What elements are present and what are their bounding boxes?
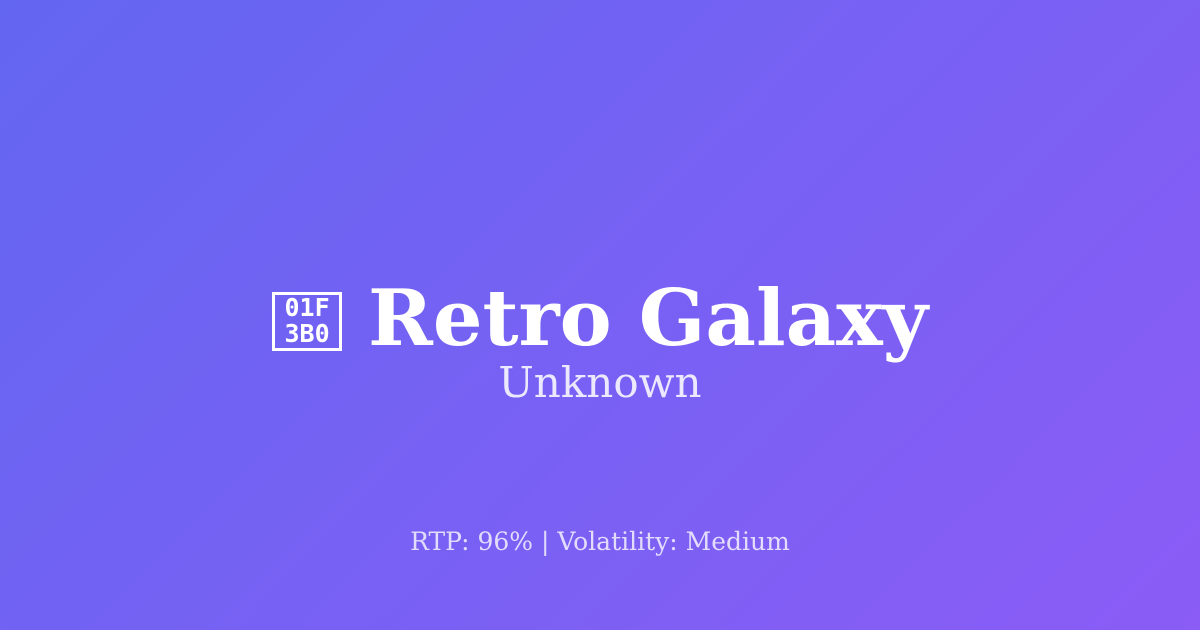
slot-machine-icon-hex-top: 01F — [284, 295, 329, 321]
game-stats-line: RTP: 96% | Volatility: Medium — [0, 527, 1200, 557]
game-og-card: 01F 3B0 Retro Galaxy Unknown RTP: 96% | … — [0, 0, 1200, 630]
provider-label: Unknown — [0, 362, 1200, 404]
slot-machine-icon-hex-bottom: 3B0 — [284, 321, 329, 347]
slot-machine-icon: 01F 3B0 — [272, 292, 342, 351]
page-title: Retro Galaxy — [368, 280, 928, 358]
